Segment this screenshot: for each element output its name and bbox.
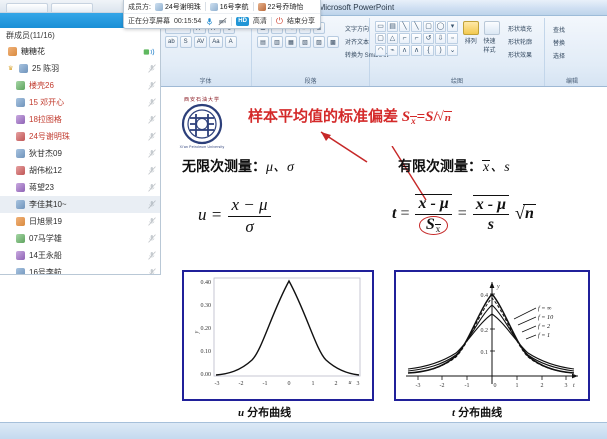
qq-tab-2[interactable] xyxy=(51,3,93,12)
list-item[interactable]: 胡伟松12 xyxy=(0,162,160,179)
legend-f-1: f = 1 xyxy=(538,332,550,339)
avatar xyxy=(16,217,25,226)
svg-text:3: 3 xyxy=(357,381,360,387)
red-title-text: 样本平均值的标准偏差 xyxy=(248,109,398,125)
formula-t-den1-sub: x xyxy=(435,224,442,234)
svg-text:-3: -3 xyxy=(215,381,220,387)
qq-hd-label[interactable]: 高清 xyxy=(253,16,267,26)
shape-brace-right-icon[interactable]: ) xyxy=(435,45,446,56)
formula-t-fraction-2: x - μ s xyxy=(473,195,509,234)
list-item[interactable]: 15 邓开心 xyxy=(0,94,160,111)
formula-t-equals-2: = xyxy=(458,205,467,222)
list-item[interactable]: 楼壳26 xyxy=(0,77,160,94)
svg-text:0: 0 xyxy=(494,383,497,389)
quick-styles-icon xyxy=(484,21,500,35)
mic-off-icon[interactable] xyxy=(148,217,156,226)
qq-member-count: 群成员(11/16) xyxy=(0,28,160,43)
s-xbar-circled: Sx xyxy=(419,216,448,235)
svg-text:0.10: 0.10 xyxy=(201,349,212,355)
list-item[interactable]: 24号谢明珠 xyxy=(0,128,160,145)
formula-t-radicand: n xyxy=(523,204,536,222)
caption-t-text: 分布曲线 xyxy=(455,407,502,419)
svg-text:1: 1 xyxy=(516,383,519,389)
list-item[interactable]: ♛25 陈羽 xyxy=(0,60,160,77)
formula-t-denominator-2: s xyxy=(485,215,497,234)
crown-icon: ♛ xyxy=(8,65,15,72)
shape-effects-button[interactable]: 形状效果 xyxy=(505,48,539,60)
svg-text:0.2: 0.2 xyxy=(481,328,489,334)
red-title-numerator: S xyxy=(425,109,433,125)
group-label-font: 字体 xyxy=(165,76,246,86)
divider xyxy=(231,17,232,26)
qq-member-name-3: 22号乔琦怡 xyxy=(268,2,304,12)
member-name: 楼壳26 xyxy=(29,80,144,91)
member-name: 蒋望23 xyxy=(29,182,144,193)
svg-text:y: y xyxy=(194,330,200,334)
mic-off-icon[interactable] xyxy=(148,149,156,158)
header-right-s: 、s xyxy=(490,160,509,175)
group-label-paragraph: 段落 xyxy=(257,76,364,86)
shape-scroll-more-icon[interactable]: ⌄ xyxy=(447,45,458,56)
list-item[interactable]: 16号李航 xyxy=(0,264,160,275)
svg-text:0.30: 0.30 xyxy=(201,303,212,309)
member-name: 15 邓开心 xyxy=(29,97,144,108)
formula-u-numerator: x − μ xyxy=(228,196,270,217)
strikethrough-icon[interactable]: S xyxy=(180,36,192,48)
avatar xyxy=(16,132,25,141)
formula-u-fraction: x − μ σ xyxy=(228,196,270,236)
list-item[interactable]: 日旭景19 xyxy=(0,213,160,230)
svg-text:0: 0 xyxy=(288,381,291,387)
mic-off-icon[interactable] xyxy=(148,268,156,275)
mic-off-icon[interactable] xyxy=(148,183,156,192)
svg-text:0.20: 0.20 xyxy=(201,326,212,332)
red-title: 样本平均值的标准偏差 Sx=S/n xyxy=(248,105,452,126)
microphone-icon[interactable] xyxy=(205,17,214,26)
red-arrow-to-title xyxy=(315,128,375,168)
svg-text:-2: -2 xyxy=(239,381,244,387)
avatar xyxy=(16,183,25,192)
avatar xyxy=(16,268,25,275)
formula-t-fraction-1: x - μ Sx xyxy=(415,194,451,235)
chart-u-distribution: 0.40 0.30 0.20 0.10 0.00 y -3 -2 -1 0 1 … xyxy=(182,270,374,401)
svg-text:y: y xyxy=(496,284,500,290)
member-name: 25 陈羽 xyxy=(32,63,144,74)
shape-elbow-icon[interactable]: ⌐ xyxy=(399,33,410,44)
change-case-icon[interactable]: Aa xyxy=(209,36,222,48)
avatar xyxy=(16,234,25,243)
hd-badge: HD xyxy=(236,17,249,26)
svg-text:3: 3 xyxy=(565,383,568,389)
chart-t-distribution: y t 0.4 0.2 0.1 -3 -2 -1 0 1 2 3 xyxy=(394,270,590,401)
font-color-icon[interactable]: A xyxy=(225,36,237,48)
formula-t-sqrt: n xyxy=(515,205,536,223)
group-label-editing: 编辑 xyxy=(550,76,594,86)
member-name: 狄甘杰09 xyxy=(29,148,144,159)
arrange-label: 排列 xyxy=(465,36,477,45)
university-emblem: 西安石油大学 Xi'an Petroleum University xyxy=(172,94,232,150)
legend-f-inf: f = ∞ xyxy=(538,305,552,312)
formula-t-den1-S: S xyxy=(426,216,435,233)
red-title-equals: = xyxy=(417,109,426,125)
svg-text:-1: -1 xyxy=(465,383,470,389)
mic-off-icon[interactable] xyxy=(148,115,156,124)
formula-u-equals: = xyxy=(211,205,222,224)
screen: …及分析数据的统计处理-新 - Microsoft PowerPoint 18 … xyxy=(0,0,607,439)
svg-text:1: 1 xyxy=(312,381,315,387)
svg-text:t: t xyxy=(573,383,575,389)
chart-t-svg: y t 0.4 0.2 0.1 -3 -2 -1 0 1 2 3 xyxy=(396,272,588,399)
shape-brace-left-icon[interactable]: { xyxy=(423,45,434,56)
quick-styles-button[interactable]: 快速样式 xyxy=(484,21,502,54)
formula-t-denominator-1: Sx xyxy=(416,215,451,235)
mic-off-icon xyxy=(210,3,218,11)
formula-t-numerator-1: x - μ xyxy=(415,194,451,215)
member-name: 07马学雄 xyxy=(29,233,144,244)
quick-styles-label: 快速样式 xyxy=(484,36,502,54)
list-item[interactable]: 李佳其10~ xyxy=(0,196,160,213)
stop-share-button[interactable]: 结束分享 xyxy=(287,16,315,26)
caption-u-curve: u 分布曲线 xyxy=(238,404,291,420)
shape-freeform-icon[interactable]: ⌁ xyxy=(387,45,398,56)
shape-scroll-icon[interactable]: ▫ xyxy=(447,33,458,44)
shape-elbow2-icon[interactable]: ⌐ xyxy=(411,33,422,44)
shadow-icon[interactable]: AV xyxy=(194,36,208,48)
svg-text:0.1: 0.1 xyxy=(481,350,489,356)
legend-f-10: f = 10 xyxy=(538,314,554,321)
qq-tab-1[interactable] xyxy=(6,3,48,12)
member-name: 16号李航 xyxy=(29,267,144,275)
header-left-symbols: μ、σ xyxy=(266,160,294,175)
avatar xyxy=(16,149,25,158)
select-button[interactable]: 选择 xyxy=(550,49,594,61)
status-bar xyxy=(0,422,607,439)
mic-off-icon[interactable] xyxy=(148,200,156,209)
align-center-icon[interactable]: ▥ xyxy=(271,36,283,48)
qq-share-toolbar[interactable]: 成员方: 24号谢明珠 16号李航 22号乔琦怡 正在分享屏幕 00:15:54 xyxy=(123,0,321,29)
shape-rect-icon[interactable]: ▢ xyxy=(423,21,434,32)
mic-off-icon[interactable] xyxy=(148,64,156,73)
list-item[interactable]: 18拉图格 xyxy=(0,111,160,128)
paragraph-row-2: ▤ ▥ ▦ ▧ ▨ ▩ xyxy=(257,35,339,49)
align-right-icon[interactable]: ▦ xyxy=(285,36,297,48)
divider xyxy=(253,2,254,11)
mic-off-icon[interactable] xyxy=(148,81,156,90)
ribbon-group-editing: 查找 替换 选择 编辑 xyxy=(545,18,599,86)
svg-text:0.00: 0.00 xyxy=(201,372,212,378)
replace-button[interactable]: 替换 xyxy=(550,36,594,48)
header-right-xbar: x xyxy=(482,160,490,175)
shape-fill-button[interactable]: 形状填充 xyxy=(505,22,539,34)
qq-share-controls-row: 正在分享屏幕 00:15:54 HD 高清 ⏻ 结束分享 xyxy=(124,14,320,28)
qq-share-timer: 00:15:54 xyxy=(174,18,201,25)
shape-square-icon[interactable]: ▢ xyxy=(375,33,386,44)
shape-oval-icon[interactable]: ◯ xyxy=(435,21,446,32)
chart-u-svg: 0.40 0.30 0.20 0.10 0.00 y -3 -2 -1 0 1 … xyxy=(184,272,372,399)
svg-text:0.40: 0.40 xyxy=(201,280,212,286)
shape-arc-icon[interactable]: ◠ xyxy=(375,45,386,56)
avatar xyxy=(16,251,25,260)
avatar xyxy=(8,47,17,56)
list-item[interactable]: 07马学雄 xyxy=(0,230,160,247)
qq-member-name-2: 16号李航 xyxy=(220,2,249,12)
formula-t: t = x - μ Sx = x - μ s n xyxy=(392,194,536,235)
find-button[interactable]: 查找 xyxy=(550,23,594,35)
power-icon[interactable]: ⏻ xyxy=(276,17,283,26)
font-row-2: ab S AV Aa A xyxy=(165,35,246,49)
slide-canvas[interactable]: 西安石油大学 Xi'an Petroleum University 样本平均值的… xyxy=(160,88,607,422)
qq-share-members-row: 成员方: 24号谢明珠 16号李航 22号乔琦怡 xyxy=(124,0,320,14)
qq-member-chip-1[interactable]: 24号谢明珠 xyxy=(155,2,201,12)
avatar xyxy=(16,115,25,124)
list-item[interactable]: 狄甘杰09 xyxy=(0,145,160,162)
emblem-bottom-text: Xi'an Petroleum University xyxy=(172,145,232,149)
shape-curve-icon[interactable]: ↺ xyxy=(423,33,434,44)
header-finite-measurement: 有限次测量：x、s xyxy=(398,156,510,176)
header-left-text: 无限次测量： xyxy=(182,158,266,174)
shape-gallery[interactable]: ▭ ▤ ╲ ╲ ▢ ◯ ▾ ▢ △ ⌐ ⌐ ↺ ⇩ xyxy=(375,21,458,56)
formula-u-lhs: u xyxy=(198,205,207,224)
member-name: 李佳其10~ xyxy=(29,199,144,210)
divider xyxy=(271,17,272,26)
list-item[interactable]: 糖糖花 xyxy=(0,43,160,60)
member-name: 14王永船 xyxy=(29,250,144,261)
avatar xyxy=(16,81,25,90)
qq-member-list[interactable]: 糖糖花♛25 陈羽楼壳2615 邓开心18拉图格24号谢明珠狄甘杰09胡伟松12… xyxy=(0,43,160,274)
formula-t-numerator-2: x - μ xyxy=(473,195,509,216)
avatar xyxy=(19,64,28,73)
member-name: 糖糖花 xyxy=(21,46,139,57)
emblem-top-text: 西安石油大学 xyxy=(172,96,232,103)
distribute-icon[interactable]: ▨ xyxy=(313,36,325,48)
list-item[interactable]: 14王永船 xyxy=(0,247,160,264)
arrange-button[interactable]: 排列 xyxy=(462,21,480,45)
qq-group-panel[interactable]: 群成员(11/16) 糖糖花♛25 陈羽楼壳2615 邓开心18拉图格24号谢明… xyxy=(0,0,161,275)
shape-triangle-icon[interactable]: △ xyxy=(387,33,398,44)
red-title-sqrt: n xyxy=(438,109,452,126)
qq-member-chip-3[interactable]: 22号乔琦怡 xyxy=(258,2,304,12)
svg-text:2: 2 xyxy=(541,383,544,389)
avatar xyxy=(16,166,25,175)
member-name: 18拉图格 xyxy=(29,114,144,125)
avatar xyxy=(16,200,25,209)
shape-arrow-down-icon[interactable]: ⇩ xyxy=(435,33,446,44)
member-name: 胡伟松12 xyxy=(29,165,144,176)
svg-text:u: u xyxy=(349,380,352,386)
ribbon-group-drawing: ▭ ▤ ╲ ╲ ▢ ◯ ▾ ▢ △ ⌐ ⌐ ↺ ⇩ xyxy=(370,18,545,86)
avatar-icon xyxy=(258,3,266,11)
speaker-icon xyxy=(143,48,156,56)
shape-zigzag-icon[interactable]: ᴧ xyxy=(399,45,410,56)
header-right-text: 有限次测量： xyxy=(398,158,482,174)
header-infinite-measurement: 无限次测量：μ、σ xyxy=(182,156,294,176)
shape-outline-button[interactable]: 形状轮廓 xyxy=(505,35,539,47)
svg-text:-3: -3 xyxy=(416,383,421,389)
shape-callout-icon[interactable]: ▤ xyxy=(387,21,398,32)
shape-line-icon[interactable]: ╲ xyxy=(399,21,410,32)
legend-f-2: f = 2 xyxy=(538,323,550,330)
formula-u: u = x − μ σ xyxy=(198,196,273,236)
red-title-radicand: n xyxy=(444,111,452,124)
divider xyxy=(205,2,206,11)
caption-t-curve: t 分布曲线 xyxy=(452,404,502,420)
member-name: 24号谢明珠 xyxy=(29,131,144,142)
shape-more-icon[interactable]: ▾ xyxy=(447,21,458,32)
formula-u-denominator: σ xyxy=(242,217,256,237)
shape-arrow-icon[interactable]: ╲ xyxy=(411,21,422,32)
qq-share-status: 正在分享屏幕 xyxy=(128,16,170,26)
bold-icon[interactable]: ab xyxy=(165,36,178,48)
red-title-S: S xyxy=(402,109,410,125)
svg-text:-2: -2 xyxy=(440,383,445,389)
mic-icon xyxy=(155,3,163,11)
avatar xyxy=(16,98,25,107)
group-label-drawing: 绘图 xyxy=(375,76,539,86)
list-item[interactable]: 蒋望23 xyxy=(0,179,160,196)
mic-off-icon[interactable] xyxy=(148,132,156,141)
shape-chevron-icon[interactable]: ∧ xyxy=(411,45,422,56)
mic-off-icon[interactable] xyxy=(148,234,156,243)
caption-u-text: 分布曲线 xyxy=(244,407,291,419)
align-left-icon[interactable]: ▤ xyxy=(257,36,269,48)
member-name: 日旭景19 xyxy=(29,216,144,227)
arrange-icon xyxy=(463,21,479,35)
qq-member-name-1: 24号谢明珠 xyxy=(165,2,201,12)
columns-icon[interactable]: ▩ xyxy=(327,36,339,48)
formula-t-equals-1: = xyxy=(400,205,409,222)
qq-host-label: 成员方: xyxy=(128,2,151,12)
svg-text:-1: -1 xyxy=(263,381,268,387)
mic-off-icon[interactable] xyxy=(148,98,156,107)
formula-t-lhs: t xyxy=(392,205,396,222)
qq-member-chip-2[interactable]: 16号李航 xyxy=(210,2,249,12)
camera-off-icon[interactable] xyxy=(218,17,227,26)
svg-text:0.4: 0.4 xyxy=(481,293,489,299)
svg-text:2: 2 xyxy=(335,381,338,387)
mic-off-icon[interactable] xyxy=(148,251,156,260)
mic-off-icon[interactable] xyxy=(148,166,156,175)
justify-icon[interactable]: ▧ xyxy=(299,36,311,48)
shape-textbox-icon[interactable]: ▭ xyxy=(375,21,386,32)
